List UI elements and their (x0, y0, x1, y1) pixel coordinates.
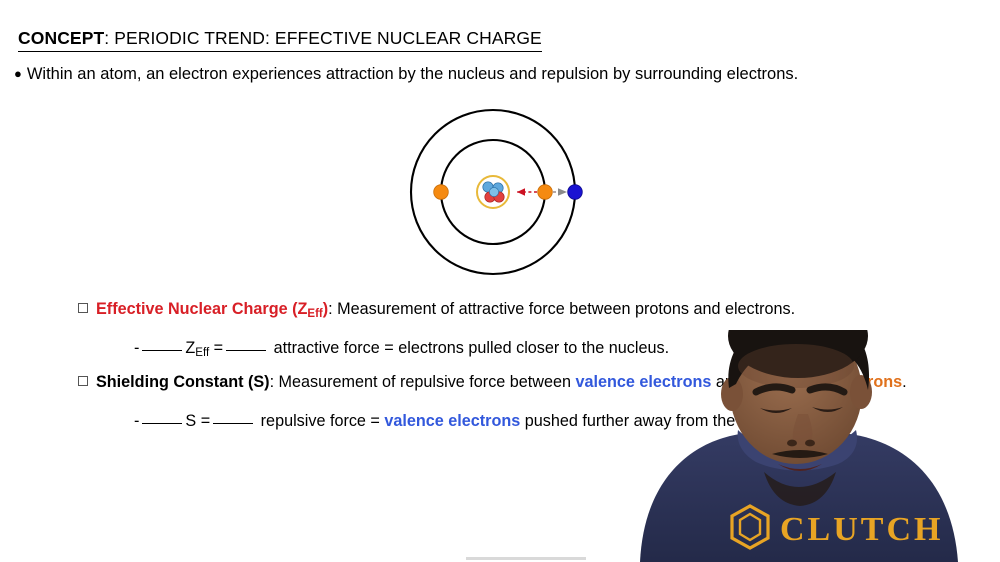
subpoint-shielding-relationship: -S = repulsive force = valence electrons… (134, 410, 800, 431)
repulsion-arrow-icon (553, 188, 567, 195)
subpoint-shielding-tail-pre: repulsive force = (261, 412, 385, 430)
square-bullet-icon (78, 376, 88, 386)
definition-zeff-body: : Measurement of attractive force betwee… (328, 300, 795, 318)
instructor-mustache (772, 450, 828, 458)
term-shielding-constant: Shielding Constant (S) (96, 373, 270, 391)
term-zeff-subscript: Eff (307, 308, 322, 320)
square-bullet-icon (78, 303, 88, 313)
intro-bullet-line: ●Within an atom, an electron experiences… (14, 65, 798, 84)
definition-shielding-constant: Shielding Constant (S): Measurement of r… (78, 373, 907, 392)
equals-sign: = (201, 412, 210, 430)
subpoint-shielding-tail-post: pushed further away from the nucleus. (520, 412, 800, 430)
definition-shielding-body-post: . (902, 373, 907, 391)
shielding-label: S (185, 412, 196, 430)
definition-shielding-body-mid: and (711, 373, 747, 391)
definition-shielding-body-pre: : Measurement of repulsive force between (270, 373, 576, 391)
clutch-hexagon-logo (732, 506, 768, 548)
attraction-arrow-icon (517, 188, 537, 195)
fill-blank-1 (142, 337, 182, 351)
inner-shell-electron-left (434, 185, 449, 200)
shirt-wordmark: CLUTCH (780, 511, 943, 548)
dash-marker: - (134, 412, 139, 430)
keyword-valence-electrons: valence electrons (575, 373, 711, 391)
bullet-dot-icon: ● (14, 66, 22, 81)
instructor-head (730, 330, 862, 464)
zeff-label-subscript: Eff (195, 347, 209, 359)
fill-blank-2 (226, 337, 266, 351)
keyword-valence-electrons: valence electrons (384, 412, 520, 430)
instructor-eye-right (812, 407, 843, 412)
zeff-label: Z (185, 339, 195, 357)
title-keyword: CONCEPT (18, 28, 104, 48)
page-title: CONCEPT: PERIODIC TREND: EFFECTIVE NUCLE… (18, 28, 542, 52)
intro-text: Within an atom, an electron experiences … (27, 65, 798, 83)
instructor-mouth (778, 464, 822, 471)
term-zeff: Effective Nuclear Charge (Z (96, 300, 307, 318)
fill-blank-3 (142, 410, 182, 424)
instructor-hair-mass (728, 330, 868, 378)
bottom-divider (466, 557, 586, 560)
instructor-beard (764, 472, 836, 506)
keyword-inner-core-electrons: inner core electrons (747, 373, 902, 391)
instructor-torso (640, 434, 958, 562)
bohr-atom-diagram (395, 108, 595, 286)
nostril-left (787, 440, 797, 447)
dash-marker: - (134, 339, 139, 357)
inner-shell-electron-right (538, 185, 553, 200)
title-rest: : PERIODIC TREND: EFFECTIVE NUCLEAR CHAR… (104, 28, 542, 48)
equals-sign: = (214, 339, 223, 357)
subpoint-zeff-relationship: -ZEff = attractive force = electrons pul… (134, 337, 669, 359)
instructor-video-overlay: CLUTCH (612, 330, 1000, 562)
definition-effective-nuclear-charge: Effective Nuclear Charge (ZEff): Measure… (78, 300, 795, 320)
shirt-collar (738, 430, 857, 471)
fill-blank-4 (213, 410, 253, 424)
neutron-particle (489, 187, 498, 196)
valence-electron (568, 185, 583, 200)
subpoint-zeff-tail: attractive force = electrons pulled clos… (274, 339, 669, 357)
nostril-right (805, 440, 815, 447)
